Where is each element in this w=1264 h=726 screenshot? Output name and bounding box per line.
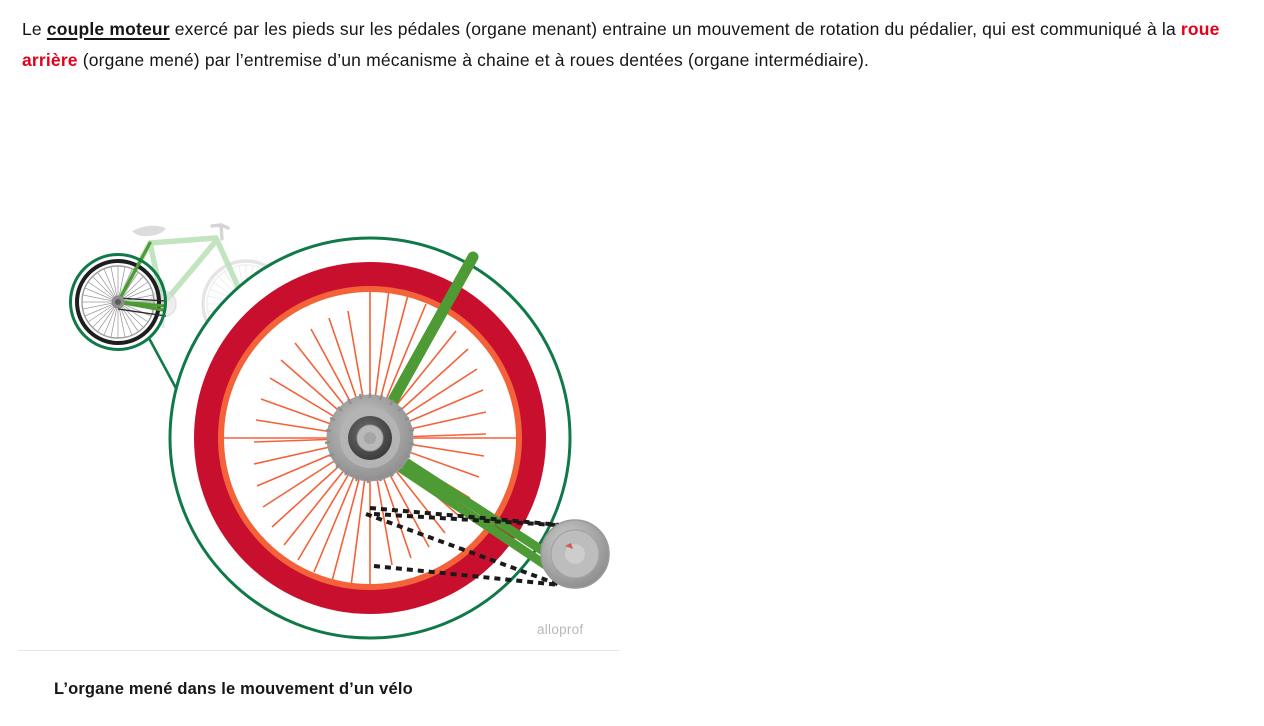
- lead-paragraph: Le couple moteur exercé par les pieds su…: [22, 14, 1222, 76]
- figure-divider: [18, 650, 620, 651]
- figure-block: alloprof L’organe mené dans le mouvement…: [0, 104, 640, 726]
- chainring: [541, 520, 609, 588]
- figure-caption: L’organe mené dans le mouvement d’un vél…: [54, 677, 413, 701]
- paragraph-segment-2: exercé par les pieds sur les pédales (or…: [170, 19, 1181, 39]
- magnified-rear-wheel: [170, 238, 609, 638]
- article-body: Le couple moteur exercé par les pieds su…: [0, 0, 1264, 76]
- figure-illustration: [0, 104, 640, 656]
- bicycle-diagram-svg: [0, 104, 640, 656]
- paragraph-segment-3: (organe mené) par l’entremise d’un mécan…: [78, 50, 869, 70]
- paragraph-segment-1: Le: [22, 19, 47, 39]
- alloprof-watermark: alloprof: [537, 622, 583, 637]
- term-couple-moteur: couple moteur: [47, 19, 170, 39]
- small-bicycle-saddle: [132, 226, 166, 237]
